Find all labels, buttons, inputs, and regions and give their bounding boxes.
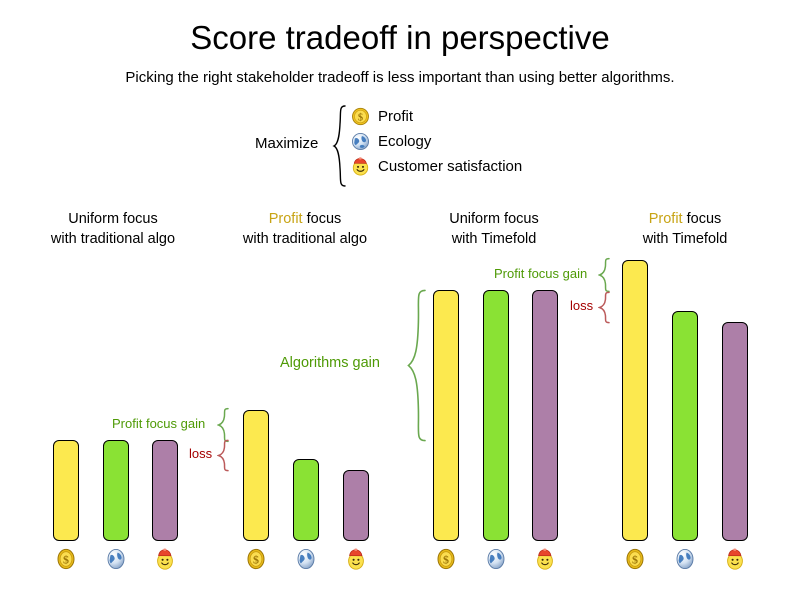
axis-icon-g1-profit: $ xyxy=(53,548,79,575)
bar-group1-profit xyxy=(53,440,79,541)
legend-item-profit: $ Profit xyxy=(351,104,522,129)
annotation-loss-group2: loss xyxy=(189,447,212,461)
legend-items: $ Profit xyxy=(351,104,522,179)
column-header-3-focus-suffix: focus xyxy=(500,211,539,227)
annotation-profit-focus-gain-group2: Profit focus gain xyxy=(112,417,205,431)
legend-title: Maximize xyxy=(255,135,318,152)
brace-profit-focus-gain-group4-icon xyxy=(598,257,611,293)
column-header-1-focus: Uniform xyxy=(68,211,119,227)
annotation-algorithms-gain: Algorithms gain xyxy=(280,356,380,370)
axis-icon-g4-profit: $ xyxy=(622,548,648,575)
column-header-4-line2: with Timefold xyxy=(570,229,800,249)
legend-label-ecology: Ecology xyxy=(378,133,431,150)
legend: Maximize $ Profit xyxy=(255,104,555,188)
bar-group2-ecology xyxy=(293,459,319,541)
axis-icon-g2-ecology xyxy=(293,548,319,575)
bar-group4-customer xyxy=(722,322,748,541)
axis-icon-g3-ecology xyxy=(483,548,509,575)
axis-icon-g3-profit: $ xyxy=(433,548,459,575)
page-title: Score tradeoff in perspective xyxy=(0,18,800,58)
brace-loss-group4-icon xyxy=(598,291,611,324)
column-header-3-focus: Uniform xyxy=(449,211,500,227)
svg-text:$: $ xyxy=(443,553,449,567)
axis-icon-g2-customer xyxy=(343,548,369,575)
axis-icon-g2-profit: $ xyxy=(243,548,269,575)
brace-profit-focus-gain-group2-icon xyxy=(217,407,230,443)
bar-group4-ecology xyxy=(672,311,698,541)
bar-group1-ecology xyxy=(103,440,129,541)
bar-group2-customer xyxy=(343,470,369,541)
column-header-2-focus: Profit xyxy=(269,211,303,227)
axis-icon-g4-ecology xyxy=(672,548,698,575)
column-header-4: Profit focus with Timefold xyxy=(570,209,800,249)
svg-text:$: $ xyxy=(632,553,638,567)
legend-brace-icon xyxy=(332,104,348,188)
bar-group3-profit xyxy=(433,290,459,541)
brace-algorithms-gain-icon xyxy=(406,288,428,443)
coin-dollar-icon: $ xyxy=(351,107,370,126)
axis-icon-g1-customer xyxy=(152,548,178,575)
legend-item-ecology: Ecology xyxy=(351,129,522,154)
svg-text:$: $ xyxy=(253,553,259,567)
bar-group1-customer xyxy=(152,440,178,541)
globe-icon xyxy=(351,132,370,151)
axis-icon-g3-customer xyxy=(532,548,558,575)
axis-icon-g1-ecology xyxy=(103,548,129,575)
svg-text:$: $ xyxy=(358,113,363,124)
axis-icon-g4-customer xyxy=(722,548,748,575)
bar-group2-profit xyxy=(243,410,269,541)
bar-group4-profit xyxy=(622,260,648,541)
column-header-4-focus-suffix: focus xyxy=(683,211,722,227)
annotation-loss-group4: loss xyxy=(570,299,593,313)
legend-label-customer-satisfaction: Customer satisfaction xyxy=(378,158,522,175)
bar-group3-ecology xyxy=(483,290,509,541)
chart-canvas: Score tradeoff in perspective Picking th… xyxy=(0,0,800,600)
annotation-profit-focus-gain-group4: Profit focus gain xyxy=(494,267,587,281)
column-header-1-focus-suffix: focus xyxy=(119,211,158,227)
column-header-2-focus-suffix: focus xyxy=(303,211,342,227)
svg-text:$: $ xyxy=(63,553,69,567)
legend-item-customer-satisfaction: Customer satisfaction xyxy=(351,154,522,179)
bar-group3-customer xyxy=(532,290,558,541)
legend-label-profit: Profit xyxy=(378,108,413,125)
smiley-cap-icon xyxy=(351,157,370,176)
brace-loss-group2-icon xyxy=(217,439,230,472)
page-subtitle: Picking the right stakeholder tradeoff i… xyxy=(0,68,800,88)
column-header-4-focus: Profit xyxy=(649,211,683,227)
